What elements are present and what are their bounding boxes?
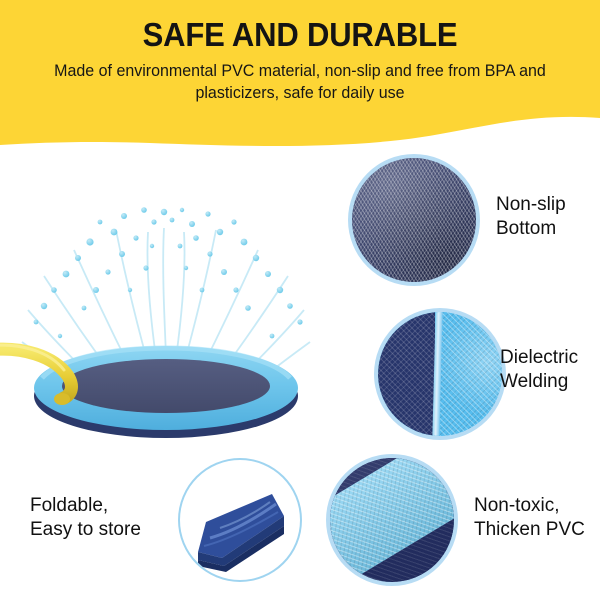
feature-swatch-non-slip-bottom bbox=[352, 158, 476, 282]
pvc-base bbox=[330, 458, 454, 582]
lightblue-panel bbox=[440, 312, 502, 436]
label-line-2: Welding bbox=[500, 370, 578, 394]
folded-mat-graphic bbox=[180, 460, 300, 580]
folded-mat-texture bbox=[180, 460, 300, 580]
label-line-1: Non-slip bbox=[496, 193, 566, 217]
feature-label-non-toxic-pvc: Non-toxic, Thicken PVC bbox=[474, 494, 585, 543]
feature-swatch-non-toxic-pvc bbox=[330, 458, 454, 582]
label-line-1: Dielectric bbox=[500, 346, 578, 370]
product-illustration bbox=[0, 150, 336, 450]
hose-connector bbox=[54, 393, 70, 405]
navy-panel bbox=[378, 312, 435, 436]
pvc-texture bbox=[330, 458, 454, 582]
mesh-pattern bbox=[352, 158, 476, 282]
pad-center-mat bbox=[62, 359, 270, 413]
label-line-2: Easy to store bbox=[30, 518, 180, 542]
label-line-1: Foldable, bbox=[30, 494, 180, 518]
header-band: SAFE AND DURABLE Made of environmental P… bbox=[0, 0, 600, 150]
feature-label-non-slip-bottom: Non-slip Bottom bbox=[496, 193, 566, 242]
feature-swatch-dielectric-welding bbox=[378, 312, 502, 436]
label-line-2: Thicken PVC bbox=[474, 518, 585, 542]
welding-texture bbox=[378, 312, 502, 436]
label-line-2: Bottom bbox=[496, 217, 566, 241]
water-droplets bbox=[34, 207, 303, 338]
feature-label-dielectric-welding: Dielectric Welding bbox=[500, 346, 578, 395]
sprinkler-pad-graphic bbox=[0, 150, 336, 450]
header-subtitle: Made of environmental PVC material, non-… bbox=[28, 60, 571, 105]
feature-swatch-foldable bbox=[180, 460, 300, 580]
non-slip-texture bbox=[352, 158, 476, 282]
infographic-canvas: SAFE AND DURABLE Made of environmental P… bbox=[0, 0, 600, 600]
page-title: SAFE AND DURABLE bbox=[18, 18, 582, 51]
feature-label-foldable: Foldable, Easy to store bbox=[30, 494, 180, 543]
label-line-1: Non-toxic, bbox=[474, 494, 585, 518]
